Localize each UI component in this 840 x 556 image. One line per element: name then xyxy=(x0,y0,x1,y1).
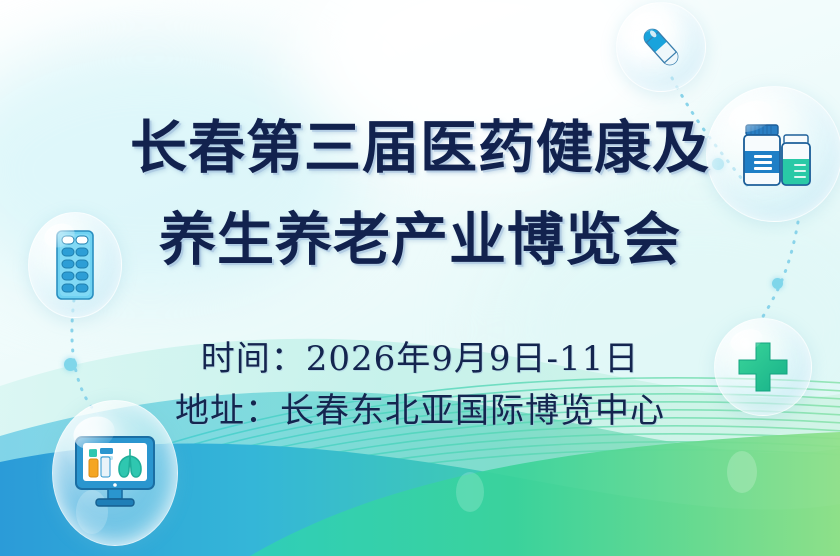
event-venue-line: 地址：长春东北亚国际博览中心 xyxy=(0,385,840,437)
poster-info: 时间：2026年9月9日-11日 地址：长春东北亚国际博览中心 xyxy=(0,333,840,437)
poster-title: 长春第三届医药健康及 养生养老产业博览会 xyxy=(0,102,840,286)
poster-canvas: 长春第三届医药健康及 养生养老产业博览会 时间：2026年9月9日-11日 地址… xyxy=(0,0,840,556)
event-date-line: 时间：2026年9月9日-11日 xyxy=(0,333,840,385)
bubble-capsule xyxy=(616,2,706,92)
monitor-health-icon xyxy=(72,433,158,513)
title-line-1: 长春第三届医药健康及 xyxy=(0,102,840,194)
title-line-2: 养生养老产业博览会 xyxy=(0,194,840,286)
capsule-icon xyxy=(634,20,688,74)
